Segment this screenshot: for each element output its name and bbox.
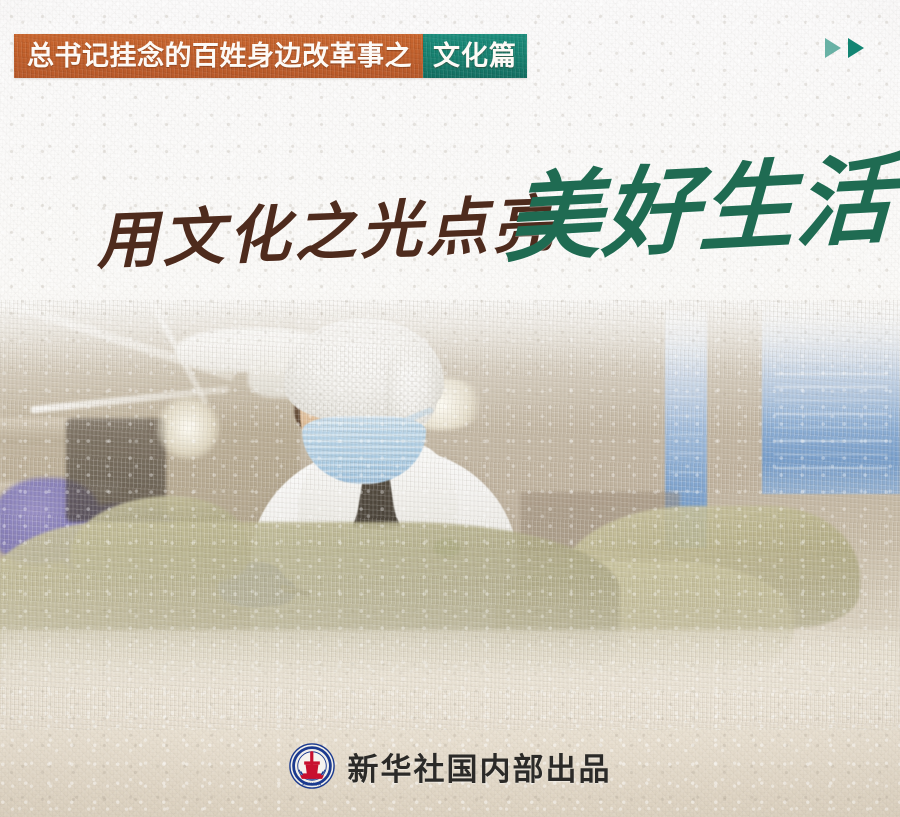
headline-part-green: 美好生活 xyxy=(504,152,895,269)
play-triangle-icon xyxy=(825,38,841,58)
footer-credit-text: 新华社国内部出品 xyxy=(348,744,612,789)
footer-credit: XINHUA 新华社国内部出品 xyxy=(0,743,900,789)
photo-worktable-front xyxy=(0,630,900,730)
series-banner: 总书记挂念的百姓身边改革事之 文化篇 xyxy=(14,34,527,78)
poster-canvas: 总书记挂念的百姓身边改革事之 文化篇 用文化之光点亮 美好生活 xyxy=(0,0,900,817)
headline-part-brown: 用文化之光点亮 xyxy=(95,193,559,273)
series-banner-sub: 文化篇 xyxy=(423,34,527,78)
photo-lamp-glow xyxy=(156,396,220,460)
photo-wall-panel-large xyxy=(762,302,900,494)
photo-panel-text-lines xyxy=(762,302,900,494)
play-triangle-icon xyxy=(848,38,864,58)
xinhua-wordmark: XINHUA xyxy=(301,781,321,786)
series-banner-sub-label: 文化篇 xyxy=(433,43,517,70)
headline-calligraphy: 用文化之光点亮 美好生活 xyxy=(0,150,900,300)
series-banner-main: 总书记挂念的百姓身边改革事之 xyxy=(14,34,423,78)
xinhua-logo-icon: XINHUA xyxy=(289,743,335,789)
series-banner-main-label: 总书记挂念的百姓身边改革事之 xyxy=(27,43,412,70)
feature-photograph xyxy=(0,300,900,730)
arrow-marker-group xyxy=(825,38,864,58)
